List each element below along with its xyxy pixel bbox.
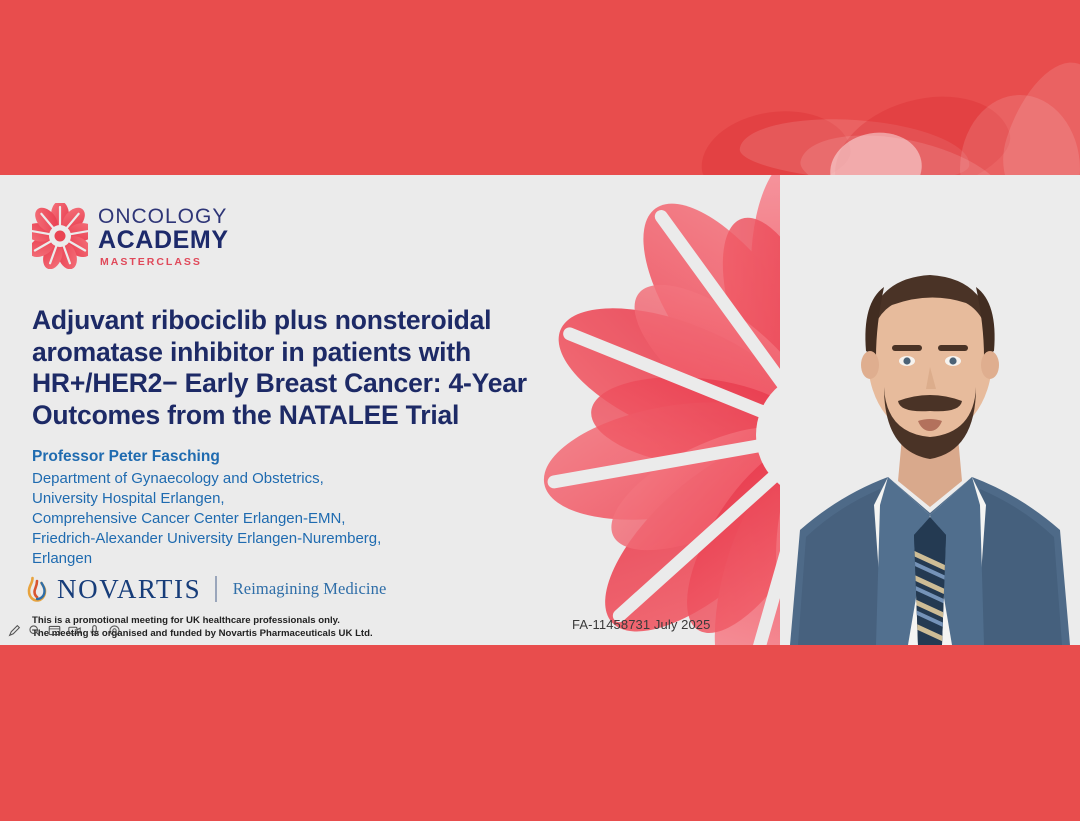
settings-icon[interactable] — [108, 624, 121, 637]
banner-petal-artwork — [680, 0, 1080, 175]
microphone-icon[interactable] — [88, 624, 101, 637]
pen-icon[interactable] — [8, 624, 21, 637]
job-code: FA-11458731 July 2025 — [572, 617, 710, 632]
speaker-photo — [780, 175, 1080, 645]
camera-icon[interactable] — [68, 624, 81, 637]
affiliation-line: University Hospital Erlangen, — [32, 489, 502, 509]
novartis-flame-icon — [26, 575, 48, 603]
affiliation-line: Friedrich-Alexander University Erlangen-… — [32, 529, 502, 549]
slide-tool-overlay[interactable] — [8, 624, 121, 637]
speaker-name: Professor Peter Fasching — [32, 447, 502, 468]
logo-line-oncology: ONCOLOGY — [98, 206, 229, 227]
slides-icon[interactable] — [48, 624, 61, 637]
logo-divider — [215, 576, 217, 602]
speaker-block: Professor Peter Fasching Department of G… — [32, 447, 502, 569]
oncology-academy-flower-mark — [32, 203, 88, 269]
video-stage: ONCOLOGY ACADEMY MASTERCLASS Adjuvant ri… — [0, 0, 1080, 821]
slide-text-column: ONCOLOGY ACADEMY MASTERCLASS Adjuvant ri… — [0, 175, 560, 645]
magnifier-icon[interactable] — [28, 624, 41, 637]
logo-line-academy: ACADEMY — [98, 228, 229, 253]
novartis-wordmark: NOVARTIS — [57, 576, 201, 603]
affiliation-line: Comprehensive Cancer Center Erlangen-EMN… — [32, 509, 502, 529]
novartis-logo: NOVARTIS Reimagining Medicine — [26, 575, 386, 603]
logo-line-masterclass: MASTERCLASS — [100, 257, 229, 268]
page-title: Adjuvant ribociclib plus nonsteroidal ar… — [32, 305, 552, 431]
oncology-academy-logo: ONCOLOGY ACADEMY MASTERCLASS — [32, 203, 229, 269]
affiliation-line: Erlangen — [32, 549, 502, 569]
presentation-slide: ONCOLOGY ACADEMY MASTERCLASS Adjuvant ri… — [0, 175, 1080, 645]
affiliation-line: Department of Gynaecology and Obstetrics… — [32, 469, 502, 489]
novartis-tagline: Reimagining Medicine — [233, 581, 387, 598]
speaker-affiliation: Department of Gynaecology and Obstetrics… — [32, 469, 502, 569]
